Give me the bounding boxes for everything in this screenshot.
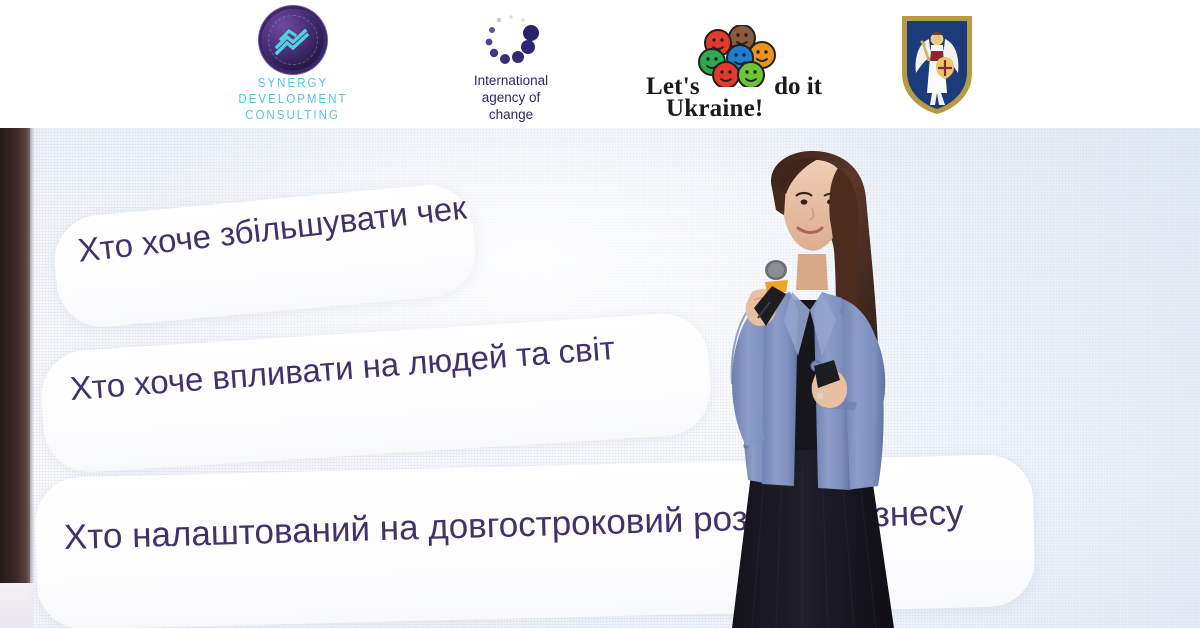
logo-iac-label-line3: change [489, 106, 533, 123]
logo-kyiv-coat-of-arms [882, 11, 992, 117]
synergy-coin-icon [262, 9, 324, 71]
presentation-photo: Хто хоче збільшувати чек Хто хоче вплива… [0, 0, 1200, 628]
kyiv-shield-archangel-icon [899, 13, 975, 117]
dot-circle-icon [476, 11, 546, 69]
screen-left-border-base [0, 583, 34, 628]
lets-do-it-mark: Let's do it Ukraine! [644, 25, 824, 111]
logo-ldi-label-ukraine: Ukraine! [666, 95, 763, 123]
logo-synergy-label-line2: CONSULTING [246, 107, 341, 123]
logo-iac-label-line2: agency of [482, 89, 541, 106]
smiley-faces-cluster-icon [696, 25, 782, 87]
logo-synergy-development-consulting: SYNERGY DEVELOPMENT CONSULTING [208, 5, 378, 123]
logo-lets-do-it-ukraine: Let's do it Ukraine! [644, 17, 824, 111]
logo-header-band: SYNERGY DEVELOPMENT CONSULTING [0, 0, 1200, 128]
logo-synergy-label-line1: SYNERGY DEVELOPMENT [215, 75, 371, 107]
logo-row: SYNERGY DEVELOPMENT CONSULTING [0, 0, 1200, 128]
speaker-photo [718, 150, 968, 628]
logo-ldi-label-doit: do it [774, 73, 822, 101]
logo-iac-label-line1: International [474, 72, 548, 89]
logo-international-agency-of-change: International agency of change [436, 5, 586, 123]
screen-left-dark-border [0, 128, 30, 583]
